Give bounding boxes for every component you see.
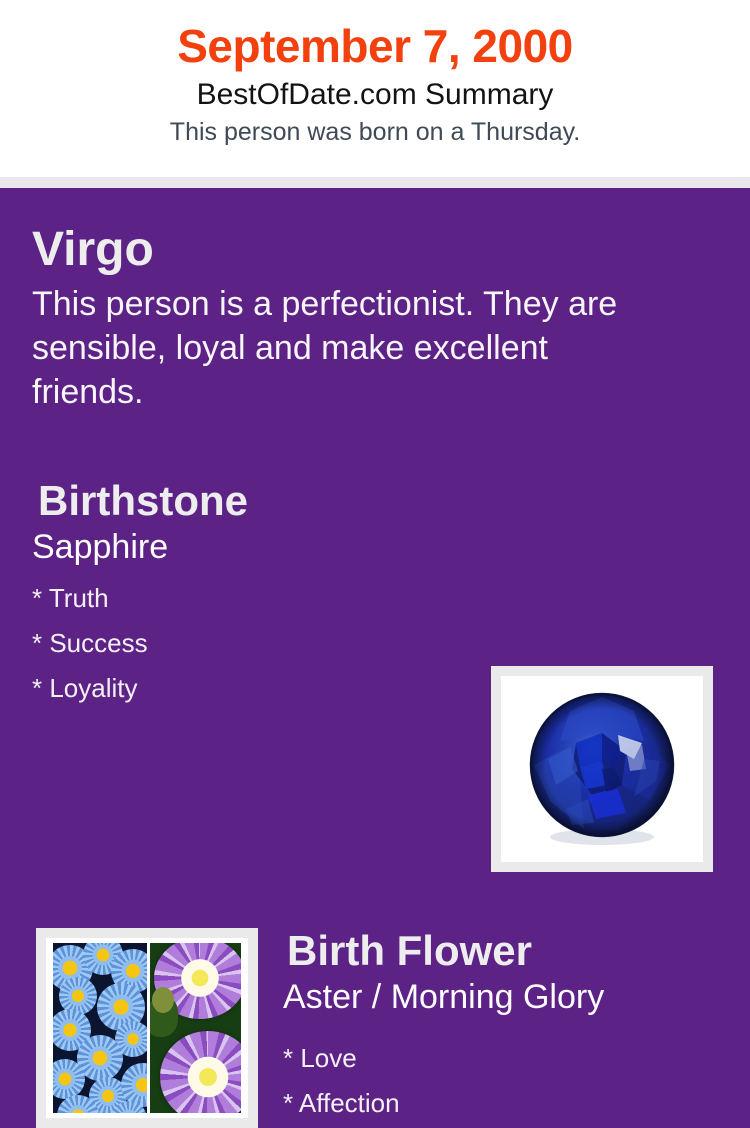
list-item: * Love — [283, 1036, 723, 1081]
birth-flower-trait-list: * Love * Affection — [283, 1036, 723, 1126]
header-divider — [0, 177, 750, 188]
birthstone-trait-list: * Truth * Success * Loyality — [32, 576, 462, 711]
birthstone-name: Sapphire — [32, 526, 462, 568]
site-summary-label: BestOfDate.com Summary — [0, 76, 750, 114]
birthstone-image-frame — [491, 666, 713, 872]
list-item: * Loyality — [32, 666, 462, 711]
aster-photo-half — [53, 943, 147, 1113]
list-item: * Affection — [283, 1081, 723, 1126]
morning-glory-photo-half — [150, 943, 241, 1113]
birth-flower-name: Aster / Morning Glory — [283, 976, 723, 1018]
page-title-date: September 7, 2000 — [0, 18, 750, 74]
sapphire-gemstone-photo — [522, 689, 682, 849]
zodiac-sign-title: Virgo — [32, 222, 692, 278]
list-item: * Success — [32, 621, 462, 666]
list-item: * Truth — [32, 576, 462, 621]
summary-panel: Virgo This person is a perfectionist. Th… — [0, 188, 750, 1000]
birth-flower-section: Birth Flower Aster / Morning Glory * Lov… — [283, 926, 723, 1126]
zodiac-description: This person is a perfectionist. They are… — [32, 282, 652, 414]
birthstone-section: Birthstone Sapphire * Truth * Success * … — [32, 476, 462, 711]
birthstone-heading: Birthstone — [38, 476, 462, 526]
birth-flower-image-frame — [36, 928, 258, 1128]
zodiac-section: Virgo This person is a perfectionist. Th… — [32, 222, 692, 414]
page-header: September 7, 2000 BestOfDate.com Summary… — [0, 0, 750, 177]
aster-morning-glory-photo — [46, 938, 248, 1118]
birth-flower-heading: Birth Flower — [287, 926, 723, 976]
birth-weekday-note: This person was born on a Thursday. — [0, 116, 750, 148]
